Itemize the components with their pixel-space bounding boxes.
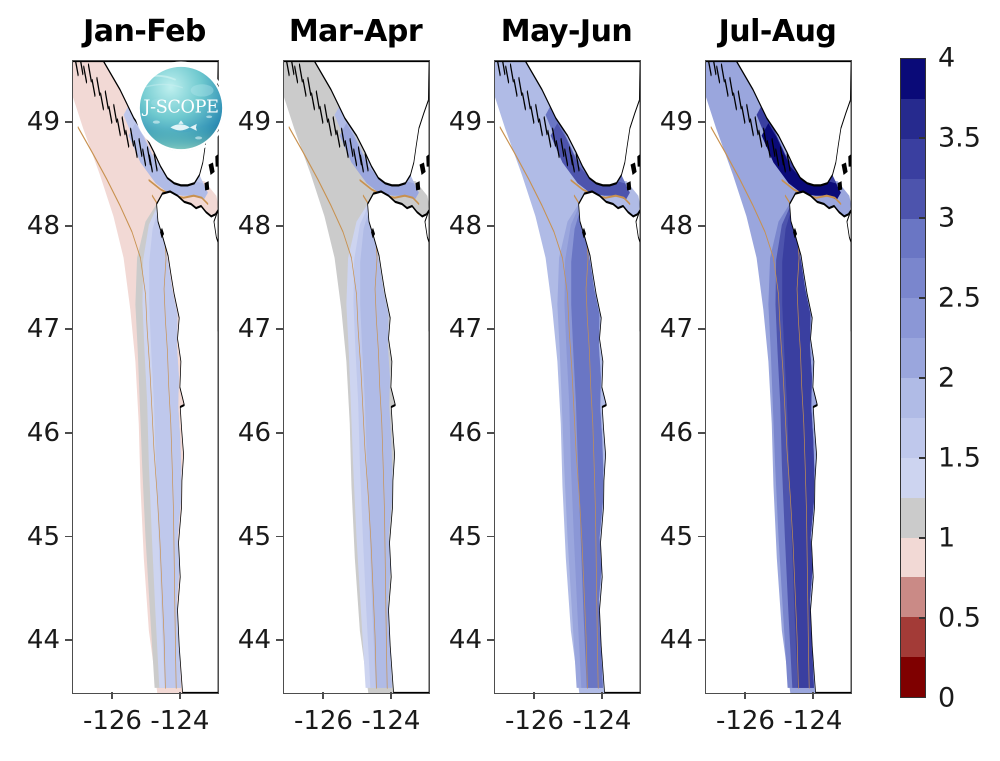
island-0 (842, 163, 848, 175)
panel-title: Jul-Aug (705, 14, 850, 49)
colorbar-label: 2 (938, 363, 955, 394)
ytick-label: 47 (627, 314, 693, 344)
colorbar-tick (919, 457, 926, 459)
colorbar-band (901, 298, 925, 338)
jscope-logo-art: J-SCOPE (137, 64, 225, 152)
colorbar-tick (919, 617, 926, 619)
jscope-logo: J-SCOPE (137, 64, 225, 152)
ytick-label: 46 (627, 418, 693, 448)
figure-canvas: Jan-Feb494847464544-126-124 Mar-Apr49484… (0, 0, 1000, 761)
colorbar-band (901, 577, 925, 617)
colorbar-band (901, 418, 925, 458)
colorbar-label: 0 (938, 683, 955, 714)
colorbar-band (901, 99, 925, 139)
colorbar-tick (919, 297, 926, 299)
xtick-label: -126 (716, 706, 775, 736)
colorbar-label: 2.5 (938, 283, 981, 314)
ytick-label: 48 (627, 211, 693, 241)
colorbar-band (901, 378, 925, 418)
island-1 (848, 154, 851, 166)
colorbar-band (901, 617, 925, 657)
xtick-mark (744, 692, 746, 699)
colorbar-tick (919, 137, 926, 139)
xtick-label: -124 (783, 706, 842, 736)
map-render (706, 61, 851, 693)
xtick-mark (812, 692, 814, 699)
ytick-mark (698, 536, 705, 538)
colorbar-label: 4 (938, 43, 955, 74)
colorbar-tick (919, 537, 926, 539)
colorbar-tick (919, 217, 926, 219)
ytick-mark (698, 432, 705, 434)
ytick-label: 45 (627, 522, 693, 552)
ytick-label: 44 (627, 625, 693, 655)
colorbar-band (901, 458, 925, 498)
colorbar-band (901, 59, 925, 99)
colorbar-band (901, 338, 925, 378)
colorbar-band (901, 258, 925, 298)
ytick-mark (698, 328, 705, 330)
ytick-mark (698, 639, 705, 641)
colorbar-band (901, 219, 925, 259)
ytick-mark (698, 225, 705, 227)
ytick-label: 49 (627, 107, 693, 137)
colorbar-label: 1.5 (938, 443, 981, 474)
colorbar-band (901, 657, 925, 697)
colorbar-label: 3 (938, 203, 955, 234)
colorbar-label: 3.5 (938, 123, 981, 154)
colorbar-label: 0.5 (938, 603, 981, 634)
colorbar-band (901, 139, 925, 179)
ytick-mark (698, 121, 705, 123)
svg-text:J-SCOPE: J-SCOPE (141, 97, 218, 117)
colorbar-band (901, 498, 925, 538)
colorbar-tick (919, 377, 926, 379)
colorbar-band (901, 538, 925, 578)
colorbar-label: 1 (938, 523, 955, 554)
colorbar-band (901, 179, 925, 219)
map-axes (705, 60, 852, 694)
